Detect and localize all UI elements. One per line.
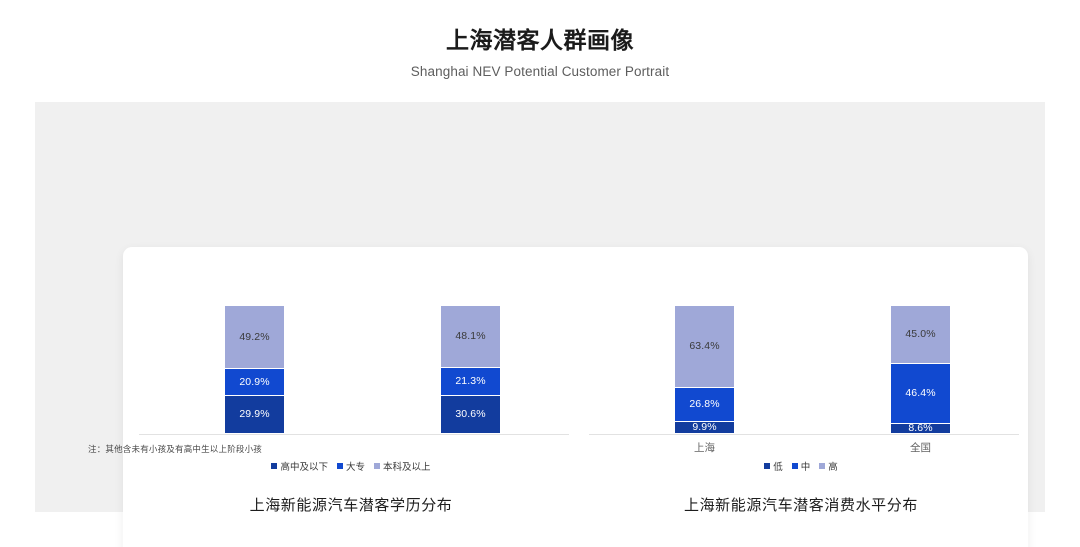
bar-segment: 29.9% (224, 395, 285, 434)
x-axis-line (589, 434, 1019, 435)
bar-segment: 26.8% (674, 387, 735, 422)
chart-education: 49.2%20.9%29.9%48.1%21.3%30.6% 高中及以下大专本科… (130, 247, 572, 547)
page-header: 上海潜客人群画像 Shanghai NEV Potential Customer… (0, 0, 1080, 79)
bar-segment: 20.9% (224, 368, 285, 395)
legend-education: 高中及以下大专本科及以上 (130, 459, 572, 473)
category-label: 上海 (660, 440, 750, 455)
bar-segment-label: 20.9% (239, 377, 269, 388)
legend-swatch-icon (792, 463, 798, 469)
bar-segment: 21.3% (440, 367, 501, 394)
bar-segment: 46.4% (890, 363, 951, 423)
bar-segment-label: 8.6% (908, 423, 932, 434)
legend-item[interactable]: 高中及以下 (271, 459, 328, 473)
bar-segment-label: 30.6% (455, 409, 485, 420)
plot-area-education: 49.2%20.9%29.9%48.1%21.3%30.6% (130, 247, 572, 444)
stacked-bar: 45.0%46.4%8.6% (890, 305, 951, 434)
chart-caption-consumption: 上海新能源汽车潜客消费水平分布 (580, 494, 1022, 515)
bar-segment: 48.1% (440, 305, 501, 367)
legend-item[interactable]: 中 (792, 459, 811, 473)
bar-segment: 49.2% (224, 305, 285, 368)
bar-segment: 63.4% (674, 305, 735, 387)
legend-swatch-icon (271, 463, 277, 469)
chart-consumption: 63.4%26.8%9.9%45.0%46.4%8.6% 上海全国 低中高 上海… (580, 247, 1022, 547)
slide-root: 上海潜客人群画像 Shanghai NEV Potential Customer… (0, 0, 1080, 547)
page-title: 上海潜客人群画像 (0, 27, 1080, 55)
content-panel: 49.2%20.9%29.9%48.1%21.3%30.6% 高中及以下大专本科… (35, 102, 1045, 512)
legend-item[interactable]: 大专 (337, 459, 365, 473)
legend-label: 低 (773, 459, 783, 473)
stacked-bar: 48.1%21.3%30.6% (440, 305, 501, 434)
legend-label: 大专 (346, 459, 365, 473)
page-subtitle: Shanghai NEV Potential Customer Portrait (0, 64, 1080, 79)
legend-swatch-icon (764, 463, 770, 469)
bar-segment-label: 45.0% (905, 329, 935, 340)
bar-segment: 30.6% (440, 395, 501, 434)
bar-segment-label: 26.8% (689, 399, 719, 410)
legend-label: 高 (828, 459, 838, 473)
bar-segment: 9.9% (674, 421, 735, 434)
footnote: 注：其他含未有小孩及有高中生以上阶段小孩 (88, 443, 262, 455)
legend-label: 高中及以下 (280, 459, 328, 473)
legend-item[interactable]: 高 (819, 459, 838, 473)
legend-label: 本科及以上 (383, 459, 431, 473)
legend-consumption: 低中高 (580, 459, 1022, 473)
bar-segment: 8.6% (890, 423, 951, 434)
category-label: 全国 (876, 440, 966, 455)
bar-segment-label: 29.9% (239, 409, 269, 420)
bar-segment-label: 21.3% (455, 376, 485, 387)
bar-segment-label: 49.2% (239, 332, 269, 343)
x-axis-line (139, 434, 569, 435)
bar-segment-label: 9.9% (692, 422, 716, 433)
legend-label: 中 (801, 459, 811, 473)
legend-item[interactable]: 低 (764, 459, 783, 473)
bar-segment: 45.0% (890, 305, 951, 363)
bar-segment-label: 48.1% (455, 331, 485, 342)
legend-item[interactable]: 本科及以上 (374, 459, 431, 473)
stacked-bar: 49.2%20.9%29.9% (224, 305, 285, 434)
legend-swatch-icon (819, 463, 825, 469)
chart-caption-education: 上海新能源汽车潜客学历分布 (130, 494, 572, 515)
charts-card: 49.2%20.9%29.9%48.1%21.3%30.6% 高中及以下大专本科… (123, 247, 1028, 547)
plot-area-consumption: 63.4%26.8%9.9%45.0%46.4%8.6% 上海全国 (580, 247, 1022, 444)
bar-segment-label: 46.4% (905, 388, 935, 399)
legend-swatch-icon (337, 463, 343, 469)
stacked-bar: 63.4%26.8%9.9% (674, 305, 735, 434)
bar-segment-label: 63.4% (689, 341, 719, 352)
legend-swatch-icon (374, 463, 380, 469)
